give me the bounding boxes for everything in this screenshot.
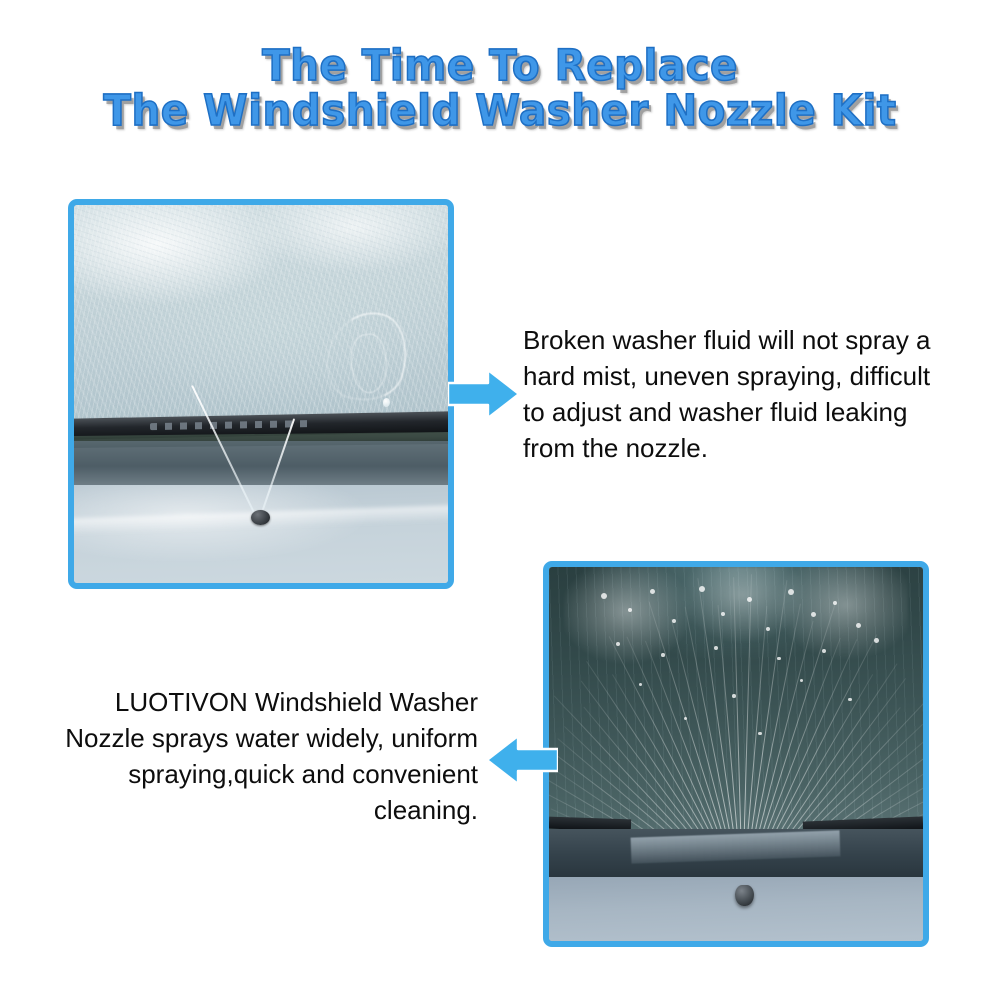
spray-speck: [874, 638, 879, 643]
spray-speck: [721, 612, 725, 616]
cowl-panel: [74, 441, 448, 486]
title-line-2: The Windshield Washer Nozzle Kit: [30, 89, 970, 134]
spray-speck: [811, 612, 816, 617]
washer-nozzle-broken: [251, 510, 270, 525]
infographic-page: The Time To Replace The Windshield Washe…: [0, 0, 1000, 1000]
spray-speck: [833, 601, 837, 605]
title-line-1: The Time To Replace: [30, 44, 970, 89]
page-title: The Time To Replace The Windshield Washe…: [0, 44, 1000, 133]
broken-nozzle-caption: Broken washer fluid will not spray a har…: [523, 322, 953, 466]
car-hood: [549, 877, 923, 941]
spray-speck: [856, 623, 861, 628]
arrow-right-icon: [448, 368, 520, 420]
washer-nozzle-new: [735, 885, 754, 906]
arrow-left-icon: [486, 734, 558, 786]
spray-speck: [777, 657, 781, 661]
spray-speck: [766, 627, 770, 631]
broken-nozzle-photo-content: [74, 205, 448, 583]
broken-nozzle-photo: [68, 199, 454, 589]
spray-speck: [639, 683, 642, 686]
fluid-droplet: [383, 398, 390, 407]
new-nozzle-photo-content: [549, 567, 923, 941]
spray-speck: [661, 653, 665, 657]
spray-speck: [628, 608, 632, 612]
spray-speck: [732, 694, 736, 698]
spray-speck: [699, 586, 705, 592]
spray-speck: [758, 732, 761, 735]
spray-speck: [714, 646, 718, 650]
new-nozzle-caption: LUOTIVON Windshield Washer Nozzle sprays…: [60, 684, 478, 828]
car-hood: [74, 485, 448, 583]
spray-speck: [684, 717, 687, 720]
new-nozzle-photo: [543, 561, 929, 947]
